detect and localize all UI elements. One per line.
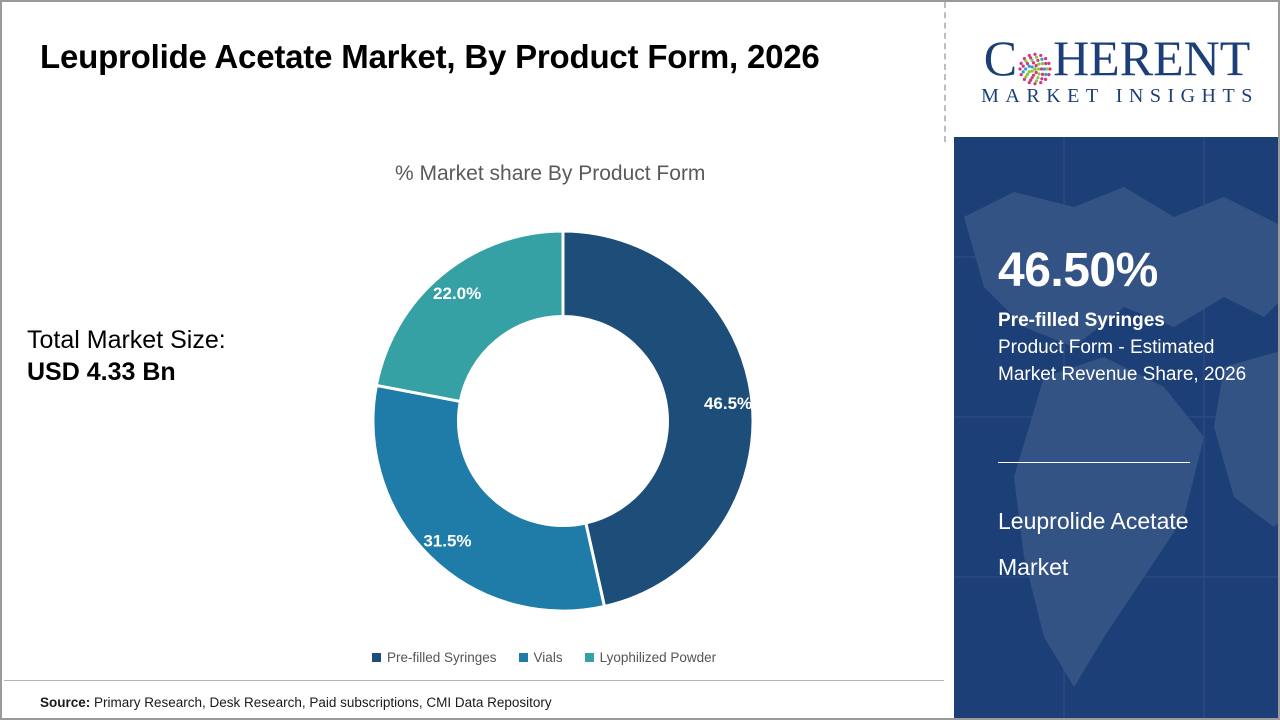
legend-swatch-icon [519, 653, 528, 662]
vertical-dashed-divider [944, 2, 946, 142]
stat-value: 46.50% [998, 247, 1158, 295]
source-divider [4, 680, 944, 681]
total-market-size-block: Total Market Size: USD 4.33 Bn [27, 324, 357, 388]
chart-legend: Pre-filled SyringesVialsLyophilized Powd… [372, 650, 716, 665]
stat-name: Pre-filled Syringes [998, 309, 1165, 333]
legend-swatch-icon [585, 653, 594, 662]
total-market-size-label: Total Market Size: [27, 324, 357, 356]
legend-item[interactable]: Vials [519, 650, 563, 665]
legend-label: Pre-filled Syringes [387, 650, 497, 665]
source-note: Source: Primary Research, Desk Research,… [40, 695, 552, 710]
source-text: Primary Research, Desk Research, Paid su… [90, 695, 551, 710]
legend-item[interactable]: Lyophilized Powder [585, 650, 717, 665]
logo-tagline: MARKET INSIGHTS [975, 85, 1259, 108]
panel-divider [998, 462, 1190, 463]
legend-swatch-icon [372, 653, 381, 662]
brand-logo: C HERENT MARKET INSIGHTS [954, 4, 1280, 137]
logo-wordmark: C HERENT [984, 33, 1251, 83]
chart-region: Leuprolide Acetate Market, By Product Fo… [2, 2, 944, 718]
donut-slice-label: 22.0% [433, 284, 481, 303]
legend-label: Vials [534, 650, 563, 665]
infographic-page: Leuprolide Acetate Market, By Product Fo… [0, 0, 1280, 720]
chart-subtitle: % Market share By Product Form [395, 162, 705, 186]
sidebar-panel: C HERENT MARKET INSIGHTS [944, 2, 1280, 718]
donut-slices [373, 231, 753, 611]
logo-letter-c: C [984, 33, 1017, 83]
donut-slice-label: 46.5% [704, 394, 752, 413]
donut-chart: 46.5%31.5%22.0% [363, 221, 763, 621]
highlight-panel: 46.50% Pre-filled Syringes Product Form … [954, 137, 1280, 720]
globe-dots-icon [1018, 44, 1052, 78]
total-market-size-value: USD 4.33 Bn [27, 356, 357, 388]
source-label: Source: [40, 695, 90, 710]
donut-slice-label: 31.5% [423, 531, 471, 550]
panel-market-name: Leuprolide Acetate Market [998, 499, 1248, 590]
stat-description: Product Form - Estimated Market Revenue … [998, 335, 1250, 389]
legend-label: Lyophilized Powder [600, 650, 717, 665]
logo-letters-herent: HERENT [1053, 33, 1250, 83]
donut-slice[interactable] [373, 385, 604, 611]
legend-item[interactable]: Pre-filled Syringes [372, 650, 497, 665]
donut-slice[interactable] [376, 231, 563, 401]
world-map-watermark [954, 137, 1280, 720]
page-title: Leuprolide Acetate Market, By Product Fo… [40, 32, 870, 82]
donut-chart-svg: 46.5%31.5%22.0% [363, 221, 763, 621]
